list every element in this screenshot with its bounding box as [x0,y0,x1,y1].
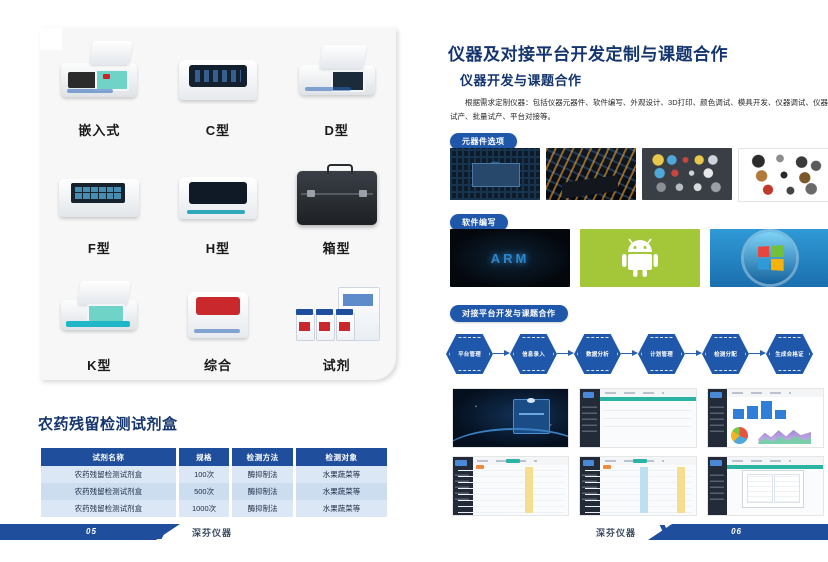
cell-spec: 100次 [179,466,230,483]
column-header-target: 检测对象 [296,448,387,466]
connectors-photo [642,148,732,200]
plan-management-screenshot[interactable] [452,456,569,516]
cell-target: 水果蔬菜等 [296,466,387,483]
flow-step-info-entry[interactable]: 信息录入 [510,334,557,374]
cell-method: 酶抑制法 [232,483,293,500]
discrete-parts-photo [738,148,828,202]
platform-screenshot-grid [452,388,824,516]
column-header-spec: 规格 [179,448,230,466]
page-title: 仪器及对接平台开发定制与课题合作 [448,40,728,65]
cell-name: 农药残留检测试剂盒 [41,483,176,500]
brochure-spread: 嵌入式 C型 D型 F型 [0,0,828,562]
software-image-row: ARM [450,229,828,287]
cell-spec: 1000次 [179,500,230,517]
flow-step-label: 平台管理 [458,350,481,358]
reagent-kit-icon [290,279,384,351]
arm-logo-icon: ARM [450,229,570,287]
circuit-board-photo [546,148,636,200]
flow-step-data-analysis[interactable]: 数据分析 [574,334,621,374]
instrument-f-icon [52,162,146,234]
left-footer: 05 深芬仪器 [0,524,414,540]
product-item-reagent[interactable]: 试剂 [277,263,396,380]
pill-platform: 对接平台开发与课题合作 [450,303,568,322]
left-footer-slashes-icon [140,525,186,539]
flow-arrow-icon [749,349,766,359]
product-item-embedded[interactable]: 嵌入式 [40,28,159,145]
flow-step-label: 数据分析 [586,350,609,358]
right-footer-slashes-icon [642,525,688,539]
left-page: 嵌入式 C型 D型 F型 [0,0,414,562]
data-entry-screenshot[interactable] [579,388,696,448]
pill-label: 对接平台开发与课题合作 [450,305,568,322]
reagent-kit-title: 农药残留检测试剂盒 [38,413,178,434]
flow-step-label: 计划管理 [650,350,673,358]
certificate-preview-screenshot[interactable] [707,456,824,516]
product-label: 嵌入式 [78,120,120,139]
flow-step-detection-allocation[interactable]: 检测分配 [702,334,749,374]
chip-pcb-photo [450,148,540,200]
cell-spec: 500次 [179,483,230,500]
product-item-d[interactable]: D型 [277,28,396,145]
flow-arrow-icon [557,349,574,359]
table-row: 农药残留检测试剂盒 1000次 酶抑制法 水果蔬菜等 [41,500,387,517]
intro-paragraph: 根据需求定制仪器：包括仪器元器件、软件编写、外观设计、3D打印、颜色调试、模具开… [450,96,828,124]
product-label: 综合 [204,355,232,374]
table-row: 农药残留检测试剂盒 100次 酶抑制法 水果蔬菜等 [41,466,387,483]
flow-step-label: 信息录入 [522,350,545,358]
flow-arrow-icon [493,349,510,359]
flow-arrow-icon [685,349,702,359]
table-header-row: 试剂名称 规格 检测方法 检测对象 [41,448,387,466]
product-label: H型 [206,238,230,257]
section-subtitle: 仪器开发与课题合作 [460,70,582,89]
instrument-k-icon [52,279,146,351]
cell-method: 酶抑制法 [232,500,293,517]
cell-method: 酶抑制法 [232,466,293,483]
left-footer-brand: 深芬仪器 [192,526,232,539]
windows-logo-icon [710,229,828,287]
product-label: 箱型 [323,238,351,257]
android-logo-icon [580,229,700,287]
cell-target: 水果蔬菜等 [296,483,387,500]
cell-name: 农药残留检测试剂盒 [41,500,176,517]
flow-step-plan-management[interactable]: 计划管理 [638,334,685,374]
product-label: 试剂 [323,355,351,374]
arm-logo-text: ARM [491,251,530,266]
platform-flow-diagram: 平台管理 信息录入 数据分析 计划管理 检测分配 生成合格证 [446,330,826,378]
instrument-h-icon [171,162,265,234]
product-item-h[interactable]: H型 [159,145,278,262]
product-label: F型 [88,238,111,257]
right-footer-brand: 深芬仪器 [596,526,636,539]
table-row: 农药残留检测试剂盒 500次 酶抑制法 水果蔬菜等 [41,483,387,500]
detection-list-screenshot[interactable] [579,456,696,516]
right-page-number: 06 [731,527,742,536]
component-image-row [450,148,828,202]
left-page-number: 05 [86,527,97,536]
flow-step-platform-management[interactable]: 平台管理 [446,334,493,374]
flow-step-label: 检测分配 [714,350,737,358]
instrument-case-icon [290,162,384,234]
product-item-k[interactable]: K型 [40,263,159,380]
flow-arrow-icon [621,349,638,359]
cell-target: 水果蔬菜等 [296,500,387,517]
data-analysis-dashboard-screenshot[interactable] [707,388,824,448]
column-header-method: 检测方法 [232,448,293,466]
instrument-integrated-icon [171,279,265,351]
product-item-integrated[interactable]: 综合 [159,263,278,380]
product-label: K型 [87,355,111,374]
product-label: C型 [206,120,230,139]
instrument-d-icon [290,44,384,116]
product-item-case[interactable]: 箱型 [277,145,396,262]
flow-step-generate-certificate[interactable]: 生成合格证 [766,334,813,374]
instrument-embedded-icon [52,44,146,116]
cell-name: 农药残留检测试剂盒 [41,466,176,483]
reagent-kit-table: 试剂名称 规格 检测方法 检测对象 农药残留检测试剂盒 100次 酶抑制法 水果… [38,448,390,517]
column-header-name: 试剂名称 [41,448,176,466]
product-label: D型 [324,120,348,139]
product-grid: 嵌入式 C型 D型 F型 [40,28,396,380]
flow-step-label: 生成合格证 [775,350,804,358]
right-footer: 06 深芬仪器 [414,524,828,540]
product-item-f[interactable]: F型 [40,145,159,262]
platform-hero-screenshot[interactable] [452,388,569,448]
instrument-c-icon [171,44,265,116]
product-item-c[interactable]: C型 [159,28,278,145]
